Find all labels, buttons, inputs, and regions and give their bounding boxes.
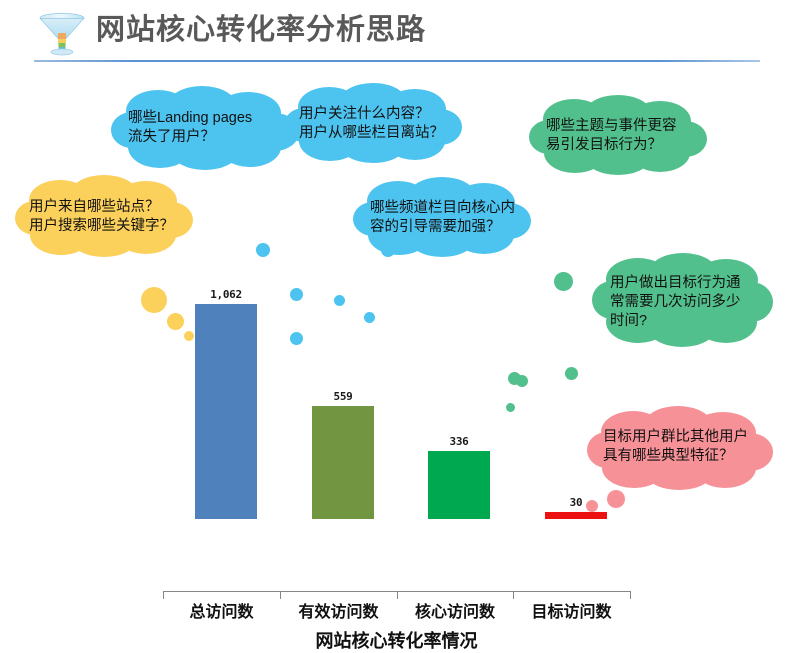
bubble-target-user-traits[interactable]: 目标用户群比其他用户 具有哪些典型特征？	[585, 406, 775, 490]
bubble-channel-guidance[interactable]: 哪些频道栏目向核心内 容的引导需要加强？	[352, 177, 532, 257]
x-axis-label-1: 总访问数	[163, 598, 280, 622]
bar-rect-3	[428, 451, 490, 519]
bar-value-label-1: 1,062	[195, 288, 257, 301]
bubble-tail-dot-blue-c	[256, 243, 270, 257]
bar-value-label-3: 336	[428, 435, 490, 448]
bar-rect-2	[312, 406, 374, 519]
bubble-tail-dot-blue-f	[364, 312, 375, 323]
bubble-tail-dot-blue-e	[334, 295, 345, 306]
bubble-tail-dot-blue-b	[290, 332, 303, 345]
x-axis-label-3: 核心访问数	[397, 598, 513, 622]
bubble-tail-dot-green-1a	[554, 272, 573, 291]
bubble-tail-dot-yellow-b	[167, 313, 184, 330]
header-divider	[34, 60, 760, 62]
bubble-text-target-user-traits: 目标用户群比其他用户 具有哪些典型特征？	[603, 428, 771, 466]
bar-rect-4	[545, 512, 607, 519]
chart-title: 网站核心转化率情况	[0, 627, 793, 653]
bubble-text-content-focus: 用户关注什么内容？ 用户从哪些栏目离站？	[299, 105, 459, 143]
bubble-topics-events[interactable]: 哪些主题与事件更容 易引发目标行为？	[528, 95, 708, 175]
bubble-tail-dot-pink-a	[607, 490, 625, 508]
bubble-text-traffic-sources: 用户来自哪些站点？ 用户搜索哪些关键字？	[29, 198, 189, 236]
slide-header: 网站核心转化率分析思路	[0, 0, 793, 66]
bubble-content-focus[interactable]: 用户关注什么内容？ 用户从哪些栏目离站？	[283, 83, 463, 163]
bubble-tail-dot-green-2a	[565, 367, 578, 380]
slide-canvas: 网站核心转化率分析思路 1,062 559 336 30	[0, 0, 793, 593]
bubble-visit-count-time[interactable]: 用户做出目标行为通 常需要几次访问多少 时间?	[590, 252, 775, 348]
bubble-text-channel-guidance: 哪些频道栏目向核心内 容的引导需要加强？	[370, 199, 528, 237]
bubble-text-topics-events: 哪些主题与事件更容 易引发目标行为？	[546, 117, 704, 155]
bar-column-2: 559	[312, 390, 374, 519]
bubble-tail-dot-blue-d	[290, 288, 303, 301]
bubble-tail-dot-green-2b	[516, 375, 528, 387]
bubble-tail-dot-yellow-a	[141, 287, 167, 313]
bubble-landing-pages[interactable]: 哪些Landing pages 流失了用户？	[110, 85, 300, 170]
x-axis-tick-4	[630, 591, 631, 599]
bar-column-1: 1,062	[195, 288, 257, 519]
bubble-tail-dot-yellow-c	[184, 331, 194, 341]
x-axis-label-4: 目标访问数	[513, 598, 630, 622]
bubble-tail-dot-blue-a	[381, 243, 395, 257]
bubble-tail-dot-pink-b	[586, 500, 598, 512]
bar-value-label-2: 559	[312, 390, 374, 403]
page-title: 网站核心转化率分析思路	[96, 8, 426, 52]
bubble-text-visit-count-time: 用户做出目标行为通 常需要几次访问多少 时间?	[610, 274, 765, 331]
bar-rect-1	[195, 304, 257, 519]
bar-column-3: 336	[428, 435, 490, 519]
bubble-text-landing-pages: 哪些Landing pages 流失了用户？	[128, 109, 293, 147]
bubble-traffic-sources[interactable]: 用户来自哪些站点？ 用户搜索哪些关键字？	[14, 175, 194, 257]
funnel-icon	[34, 9, 90, 57]
bubble-tail-dot-green-1c	[506, 403, 515, 412]
x-axis-label-2: 有效访问数	[280, 598, 397, 622]
